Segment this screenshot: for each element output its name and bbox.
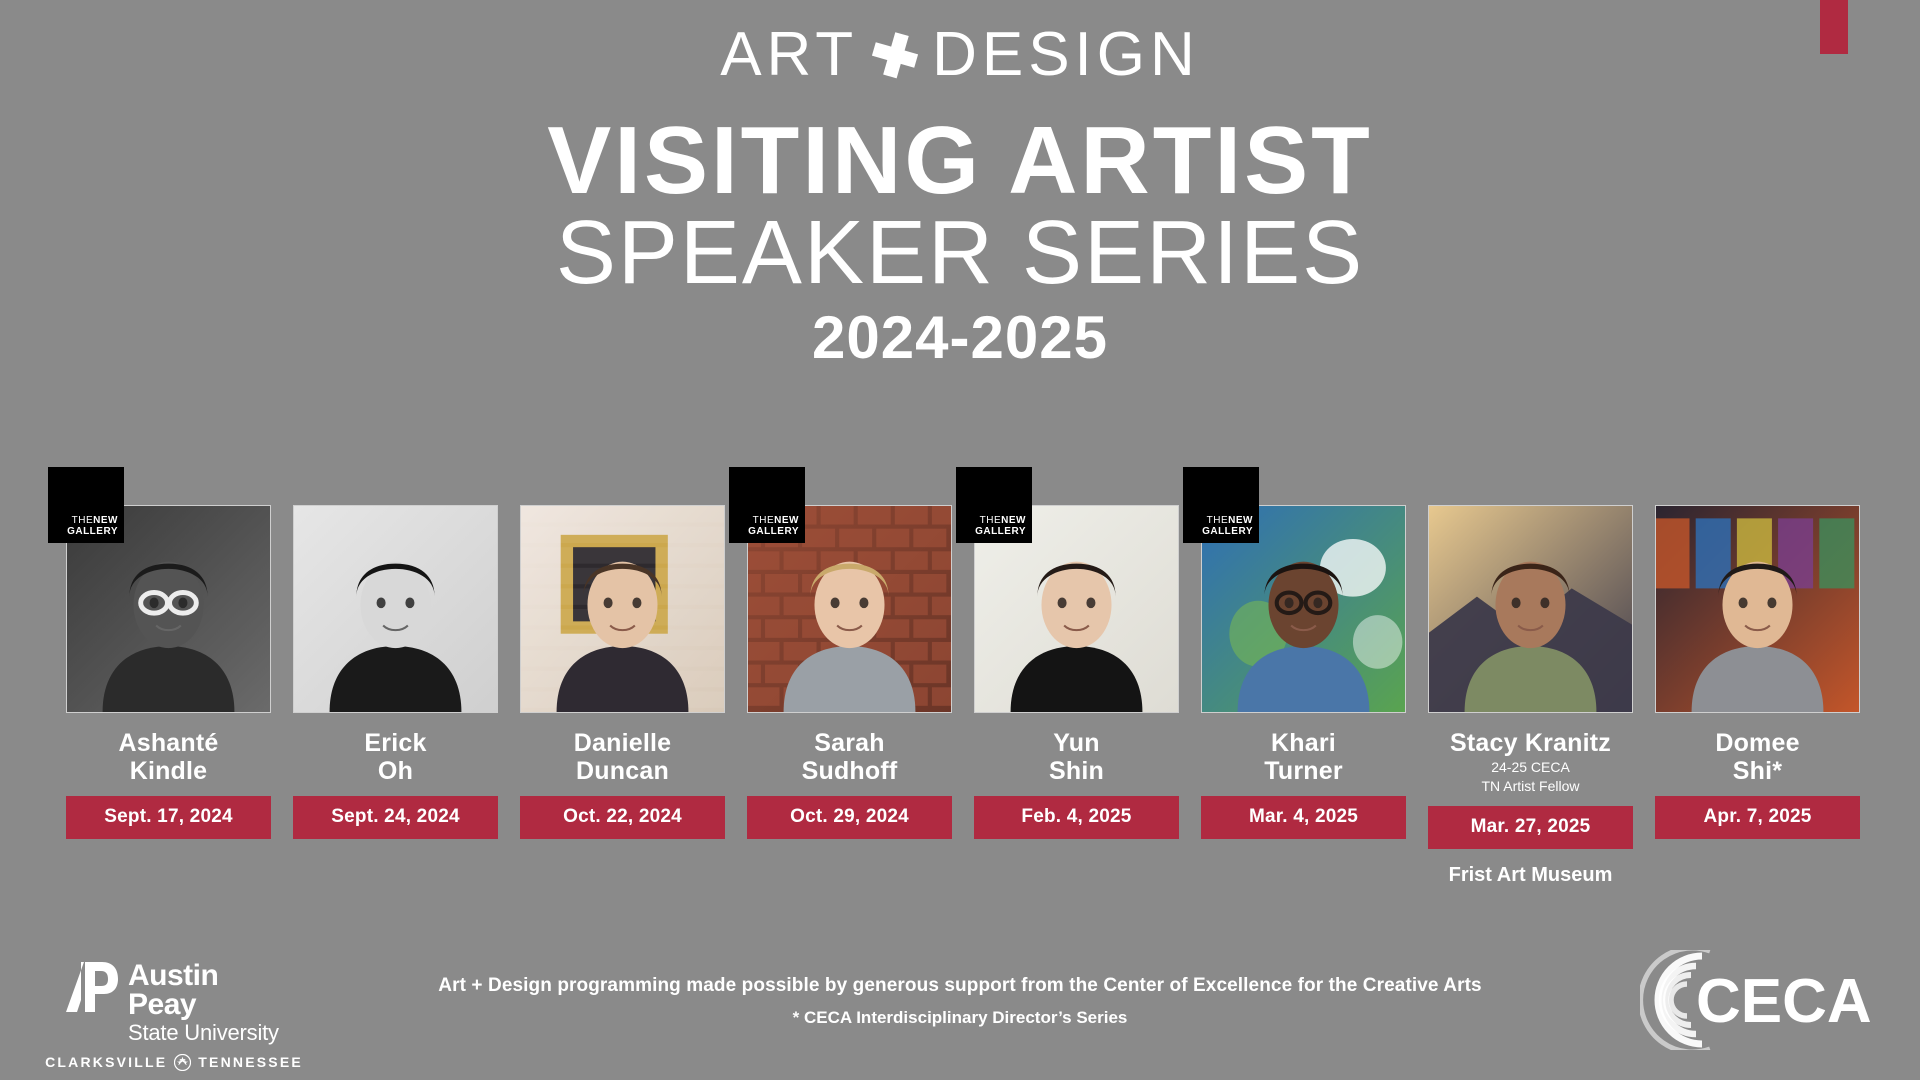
speaker-last-name: Shin (1049, 757, 1104, 785)
speaker-card[interactable]: THENEWGALLERYKhariTurnerMar. 4, 2025 (1201, 505, 1406, 887)
speaker-first-name: Erick (364, 729, 426, 757)
badge-gallery-label: GALLERY (67, 526, 118, 537)
plus-icon (867, 27, 924, 84)
badge-gallery-label: GALLERY (748, 526, 799, 537)
speaker-name: AshantéKindle (118, 729, 218, 785)
portrait-domee-shi (1655, 505, 1860, 713)
speaker-first-name: Domee (1715, 729, 1799, 757)
badge-gallery-label: GALLERY (1202, 526, 1253, 537)
speaker-first-name: Ashanté (118, 729, 218, 757)
footer-credit: Art + Design programming made possible b… (0, 975, 1920, 997)
masthead: ART DESIGN VISITING ARTIST SPEAKER SERIE… (0, 24, 1920, 369)
speaker-venue: Frist Art Museum (1449, 864, 1613, 887)
speaker-date-badge[interactable]: Oct. 29, 2024 (747, 796, 952, 839)
speaker-last-name: Oh (364, 757, 426, 785)
speaker-photo-wrap: THENEWGALLERY (974, 505, 1179, 713)
badge-the-label: THE (72, 515, 94, 526)
badge-the-label: THE (1207, 515, 1229, 526)
speaker-photo-wrap (1428, 505, 1633, 713)
portrait-stacy-kranitz (1428, 505, 1633, 713)
speaker-subtitle-line1: 24-25 CECA (1491, 759, 1570, 776)
speaker-card[interactable]: THENEWGALLERYAshantéKindleSept. 17, 2024 (66, 505, 271, 887)
speaker-date-badge[interactable]: Mar. 4, 2025 (1201, 796, 1406, 839)
page-title-line2: SPEAKER SERIES (0, 206, 1920, 301)
the-new-gallery-badge: THENEWGALLERY (1183, 467, 1259, 543)
speaker-name: DomeeShi* (1715, 729, 1799, 785)
badge-new-label: NEW (93, 515, 118, 526)
ceca-logo: CECA (1640, 950, 1870, 1050)
speaker-last-name: Shi* (1715, 757, 1799, 785)
speaker-last-name: Sudhoff (802, 757, 898, 785)
brand-lockup: ART DESIGN (720, 24, 1200, 86)
speaker-list: THENEWGALLERYAshantéKindleSept. 17, 2024… (66, 505, 1856, 887)
brand-word-design: DESIGN (932, 24, 1200, 86)
speaker-first-name: Sarah (802, 729, 898, 757)
apsu-city: CLARKSVILLE (45, 1054, 167, 1070)
speaker-name: Stacy Kranitz (1450, 729, 1611, 757)
portrait-erick-oh (293, 505, 498, 713)
page-title-line1: VISITING ARTIST (0, 112, 1920, 210)
speaker-name: KhariTurner (1264, 729, 1343, 785)
badge-new-label: NEW (774, 515, 799, 526)
speaker-name: ErickOh (364, 729, 426, 785)
portrait-danielle-duncan (520, 505, 725, 713)
austin-peay-logo: Austin Peay State University CLARKSVILLE… (64, 960, 284, 1071)
speaker-first-name: Yun (1049, 729, 1104, 757)
speaker-last-name: Kindle (118, 757, 218, 785)
speaker-photo-wrap (1655, 505, 1860, 713)
speaker-photo-wrap (520, 505, 725, 713)
apsu-monogram-icon (64, 960, 120, 1014)
the-new-gallery-badge: THENEWGALLERY (48, 467, 124, 543)
speaker-name: SarahSudhoff (802, 729, 898, 785)
speaker-subtitle-line2: TN Artist Fellow (1481, 778, 1579, 795)
speaker-date-badge[interactable]: Sept. 17, 2024 (66, 796, 271, 839)
speaker-date-badge[interactable]: Oct. 22, 2024 (520, 796, 725, 839)
badge-new-label: NEW (1001, 515, 1026, 526)
speaker-card[interactable]: DomeeShi*Apr. 7, 2025 (1655, 505, 1860, 887)
badge-the-label: THE (753, 515, 775, 526)
speaker-first-name: Stacy Kranitz (1450, 729, 1611, 757)
speaker-date-badge[interactable]: Mar. 27, 2025 (1428, 806, 1633, 849)
speaker-last-name: Turner (1264, 757, 1343, 785)
tristar-icon (174, 1054, 191, 1071)
speaker-photo-wrap: THENEWGALLERY (66, 505, 271, 713)
the-new-gallery-badge: THENEWGALLERY (956, 467, 1032, 543)
page-title-years: 2024-2025 (0, 306, 1920, 369)
speaker-card[interactable]: THENEWGALLERYYunShinFeb. 4, 2025 (974, 505, 1179, 887)
speaker-card[interactable]: DanielleDuncanOct. 22, 2024 (520, 505, 725, 887)
the-new-gallery-badge: THENEWGALLERY (729, 467, 805, 543)
ceca-wordmark: CECA (1696, 967, 1870, 1036)
speaker-photo-wrap: THENEWGALLERY (1201, 505, 1406, 713)
speaker-card[interactable]: Stacy Kranitz24-25 CECATN Artist FellowM… (1428, 505, 1633, 887)
speaker-date-badge[interactable]: Feb. 4, 2025 (974, 796, 1179, 839)
footer-note: * CECA Interdisciplinary Director’s Seri… (0, 1008, 1920, 1028)
badge-new-label: NEW (1228, 515, 1253, 526)
speaker-date-badge[interactable]: Apr. 7, 2025 (1655, 796, 1860, 839)
brand-word-art: ART (720, 24, 858, 86)
badge-gallery-label: GALLERY (975, 526, 1026, 537)
speaker-last-name: Duncan (574, 757, 671, 785)
speaker-photo-wrap (293, 505, 498, 713)
speaker-card[interactable]: THENEWGALLERYSarahSudhoffOct. 29, 2024 (747, 505, 952, 887)
speaker-name: DanielleDuncan (574, 729, 671, 785)
badge-the-label: THE (980, 515, 1002, 526)
speaker-first-name: Danielle (574, 729, 671, 757)
speaker-photo-wrap: THENEWGALLERY (747, 505, 952, 713)
apsu-state: TENNESSEE (198, 1054, 303, 1070)
speaker-first-name: Khari (1264, 729, 1343, 757)
speaker-card[interactable]: ErickOhSept. 24, 2024 (293, 505, 498, 887)
speaker-name: YunShin (1049, 729, 1104, 785)
apsu-subtitle: State University (128, 1021, 284, 1045)
apsu-name: Austin Peay (128, 962, 284, 1020)
speaker-date-badge[interactable]: Sept. 24, 2024 (293, 796, 498, 839)
